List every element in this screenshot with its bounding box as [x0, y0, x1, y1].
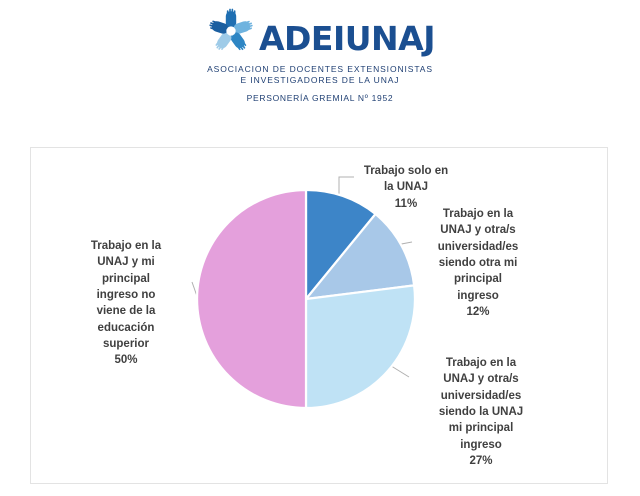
page-header: ADEIUNAJ ASOCIACION DE DOCENTES EXTENSIO…	[0, 0, 640, 120]
hands-circle-logo-icon	[205, 5, 257, 57]
pie-label-slice-2: Trabajo en la UNAJ y otra/s universidad/…	[414, 355, 548, 469]
logo-registration-line: PERSONERÍA GREMIAL Nº 1952	[170, 93, 470, 103]
pie-label-slice-0: Trabajo solo en la UNAJ 11%	[347, 163, 465, 212]
logo-subtitle: ASOCIACION DE DOCENTES EXTENSIONISTAS E …	[170, 64, 470, 86]
logo-subtitle-line-2: E INVESTIGADORES DE LA UNAJ	[170, 75, 470, 86]
pie-label-slice-1: Trabajo en la UNAJ y otra/s universidad/…	[418, 206, 538, 320]
pie-label-slice-3: Trabajo en la UNAJ y mi principal ingres…	[62, 238, 190, 369]
logo-row: ADEIUNAJ	[170, 6, 470, 60]
logo-wordmark: ADEIUNAJ	[259, 22, 435, 55]
organization-logo-block: ADEIUNAJ ASOCIACION DE DOCENTES EXTENSIO…	[170, 6, 470, 103]
logo-subtitle-line-1: ASOCIACION DE DOCENTES EXTENSIONISTAS	[170, 64, 470, 75]
